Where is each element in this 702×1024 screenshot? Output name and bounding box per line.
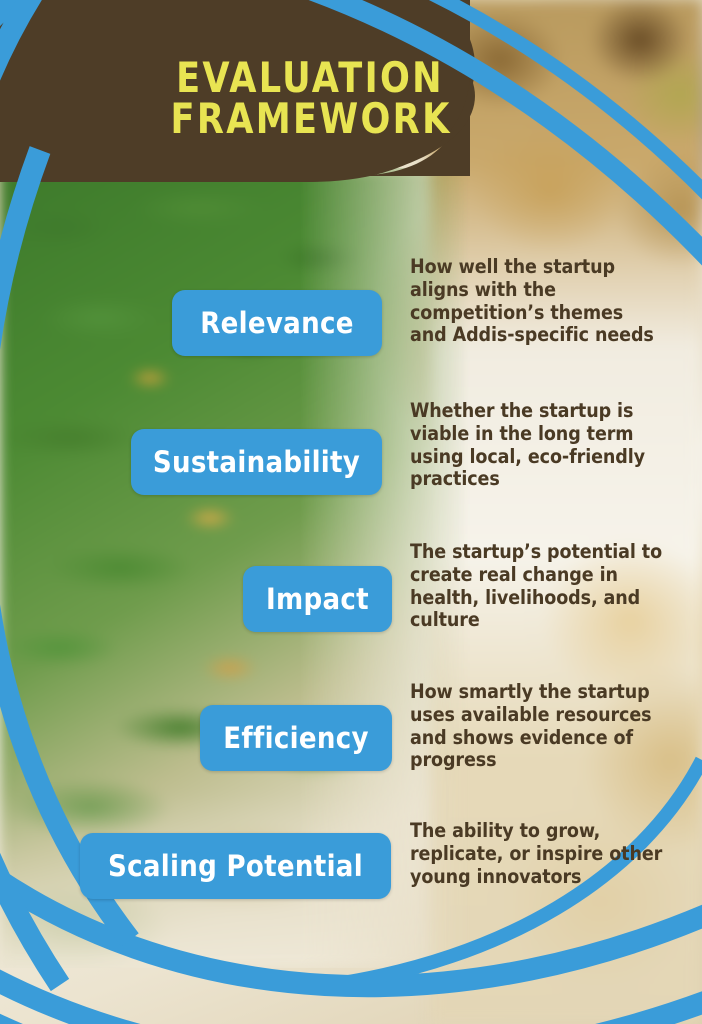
criterion-description-impact: The startup’s potential to create real c… <box>410 541 665 632</box>
criterion-badge-relevance[interactable]: Relevance <box>172 290 382 356</box>
criterion-badge-impact[interactable]: Impact <box>243 566 392 632</box>
criterion-description-scaling-potential: The ability to grow, replicate, or inspi… <box>410 820 665 888</box>
criterion-badge-scaling-potential[interactable]: Scaling Potential <box>80 833 391 899</box>
criterion-description-relevance: How well the startup aligns with the com… <box>410 256 665 347</box>
criteria-list: Relevance How well the startup aligns wi… <box>0 0 702 1024</box>
criterion-description-sustainability: Whether the startup is viable in the lon… <box>410 400 665 491</box>
criterion-badge-sustainability[interactable]: Sustainability <box>131 429 382 495</box>
criterion-description-efficiency: How smartly the startup uses available r… <box>410 681 665 772</box>
evaluation-framework-poster: EVALUATION FRAMEWORK Relevance How well … <box>0 0 702 1024</box>
criterion-badge-efficiency[interactable]: Efficiency <box>200 705 392 771</box>
